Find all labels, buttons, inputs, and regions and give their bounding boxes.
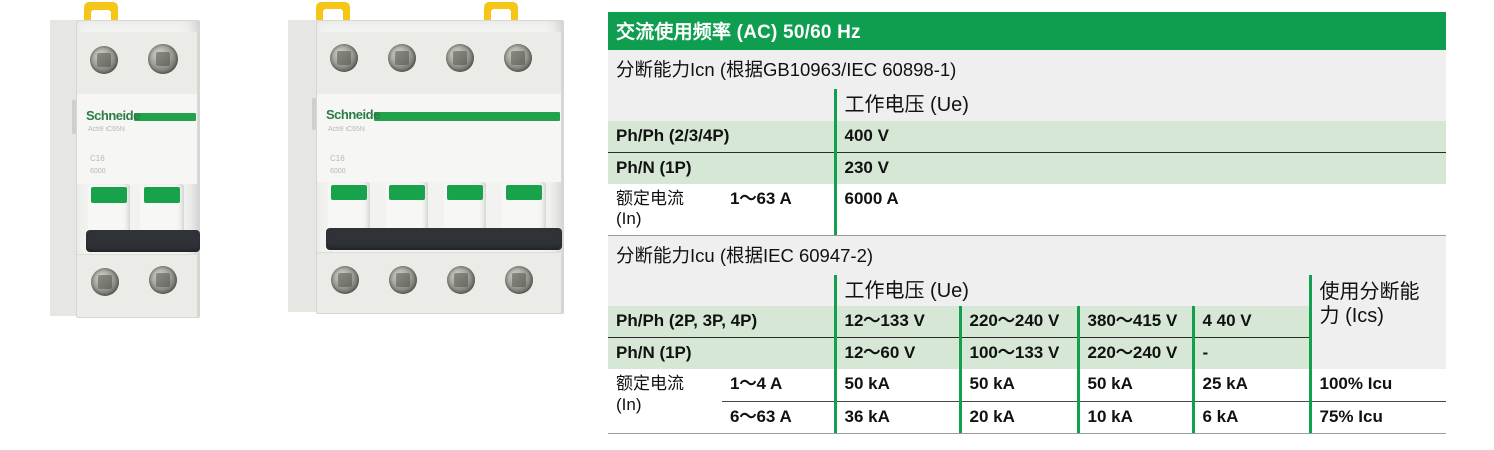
breaker-common-trip-bar <box>326 228 562 250</box>
section2-col-header-ue: 工作电压 (Ue) <box>835 275 1310 307</box>
section1-rated-current-range: 1～63 A <box>722 184 835 235</box>
table-row: 工作电压 (Ue) <box>608 89 1446 121</box>
terminal-screw <box>505 266 533 294</box>
section2-rated-value: 50 kA <box>960 369 1078 401</box>
table-row: Ph/N (1P) 230 V <box>608 152 1446 184</box>
section1-rated-current-label: 额定电流 (In) <box>608 184 722 235</box>
section2-voltage-value: 220～240 V <box>960 306 1078 338</box>
section2-voltage-value: - <box>1193 338 1310 370</box>
product-image-mcb-2-pole: Schneider Acti9 iC65N C16 6000 <box>28 2 228 324</box>
section2-col-header-ics: 使用分断能 力 (Ics) <box>1310 275 1446 370</box>
section2-rated-value: 25 kA <box>1193 369 1310 401</box>
din-clip-yellow <box>84 2 118 22</box>
section1-row-label-pad <box>722 121 835 153</box>
section2-rated-value: 36 kA <box>835 401 960 433</box>
table-bottom-rule <box>608 433 1446 434</box>
terminal-screw <box>148 44 178 74</box>
terminal-screw <box>149 266 177 294</box>
terminal-screw <box>447 266 475 294</box>
section1-rated-current-value: 6000 A <box>835 184 1446 235</box>
terminal-screw <box>388 44 416 72</box>
breaker-rating-text: C16 <box>90 154 105 163</box>
section2-rated-range: 6～63 A <box>722 401 835 433</box>
product-photo-group: Schneider Acti9 iC65N C16 6000 <box>0 0 600 450</box>
table-row: Ph/Ph (2/3/4P) 400 V <box>608 121 1446 153</box>
section1-table: 工作电压 (Ue) Ph/Ph (2/3/4P) 400 V Ph/N (1P)… <box>608 89 1446 235</box>
section2-voltage-value: 380～415 V <box>1078 306 1193 338</box>
toggle-green-marker <box>506 185 543 200</box>
section2-voltage-row-label: Ph/Ph (2P, 3P, 4P) <box>608 306 722 338</box>
section2-rated-value: 6 kA <box>1193 401 1310 433</box>
section1-col-header-ue: 工作电压 (Ue) <box>835 89 1446 121</box>
section2-voltage-value: 100～133 V <box>960 338 1078 370</box>
section1-row-value: 230 V <box>835 152 1446 184</box>
brand-green-stripe <box>134 113 196 121</box>
breaker-cert-text: 6000 <box>330 168 346 175</box>
terminal-screw <box>330 44 358 72</box>
breaker-rating-text: C16 <box>330 154 345 163</box>
table-row: 额定电流 (In) 1～63 A 6000 A <box>608 184 1446 235</box>
section2-rated-ics: 100% Icu <box>1310 369 1446 401</box>
breaker-model-text: Acti9 iC65N <box>328 126 365 133</box>
section1-row-label: Ph/Ph (2/3/4P) <box>608 121 722 153</box>
section2-rated-range: 1～4 A <box>722 369 835 401</box>
table-row: 额定电流 (In) 1～4 A 50 kA 50 kA 50 kA 25 kA … <box>608 369 1446 401</box>
section2-rated-value: 50 kA <box>835 369 960 401</box>
table-row: 工作电压 (Ue) 使用分断能 力 (Ics) <box>608 275 1446 307</box>
table-row: 6～63 A 36 kA 20 kA 10 kA 6 kA 75% Icu <box>608 401 1446 433</box>
section2-standard-label: 分断能力Icu (根据IEC 60947-2) <box>608 235 1446 275</box>
terminal-screw <box>90 46 118 74</box>
din-clip-yellow <box>316 2 350 21</box>
din-clip-yellow <box>484 2 518 21</box>
breaker-left-rail <box>288 20 319 312</box>
section1-standard-label: 分断能力Icn (根据GB10963/IEC 60898-1) <box>608 50 1446 89</box>
section2-rated-value: 50 kA <box>1078 369 1193 401</box>
brand-green-stripe <box>374 112 560 121</box>
toggle-green-marker <box>144 187 181 203</box>
breaker-common-trip-bar <box>86 230 200 252</box>
section2-spacer-cell-2 <box>722 275 835 307</box>
section2-rated-value: 10 kA <box>1078 401 1193 433</box>
section2-voltage-row-pad <box>722 338 835 370</box>
toggle-green-marker <box>389 185 424 200</box>
brand-wordmark: Schneider <box>86 108 140 123</box>
terminal-screw <box>446 44 474 72</box>
section2-rated-ics: 75% Icu <box>1310 401 1446 433</box>
breaker-left-rail <box>50 20 79 316</box>
terminal-screw <box>389 266 417 294</box>
section1-row-label-pad <box>722 152 835 184</box>
brand-wordmark: Schneider <box>326 107 380 123</box>
section2-voltage-value: 220～240 V <box>1078 338 1193 370</box>
spec-header-ac-frequency: 交流使用频率 (AC) 50/60 Hz <box>608 12 1446 50</box>
breaker-cert-text: 6000 <box>90 168 106 175</box>
section2-voltage-row-label: Ph/N (1P) <box>608 338 722 370</box>
section2-voltage-value: 4 40 V <box>1193 306 1310 338</box>
page-root: Schneider Acti9 iC65N C16 6000 <box>0 0 1494 450</box>
section2-voltage-value: 12～133 V <box>835 306 960 338</box>
terminal-screw <box>331 266 359 294</box>
terminal-screw <box>504 44 532 72</box>
section2-rated-value: 20 kA <box>960 401 1078 433</box>
toggle-green-marker <box>91 187 126 203</box>
section2-rated-current-label: 额定电流 (In) <box>608 369 722 432</box>
breaker-model-text: Acti9 iC65N <box>88 126 125 133</box>
toggle-green-marker <box>331 185 366 200</box>
section2-spacer-cell <box>608 275 722 307</box>
specification-table: 交流使用频率 (AC) 50/60 Hz 分断能力Icn (根据GB10963/… <box>608 12 1446 434</box>
terminal-screw <box>91 268 119 296</box>
section2-table: 工作电压 (Ue) 使用分断能 力 (Ics) Ph/Ph (2P, 3P, 4… <box>608 275 1446 433</box>
section1-row-label: Ph/N (1P) <box>608 152 722 184</box>
section1-row-value: 400 V <box>835 121 1446 153</box>
product-image-mcb-4-pole: Schneider Acti9 iC65N C16 6000 <box>288 2 578 320</box>
toggle-green-marker <box>447 185 482 200</box>
section1-spacer-cell <box>608 89 722 121</box>
section2-voltage-value: 12～60 V <box>835 338 960 370</box>
section1-spacer-cell-2 <box>722 89 835 121</box>
